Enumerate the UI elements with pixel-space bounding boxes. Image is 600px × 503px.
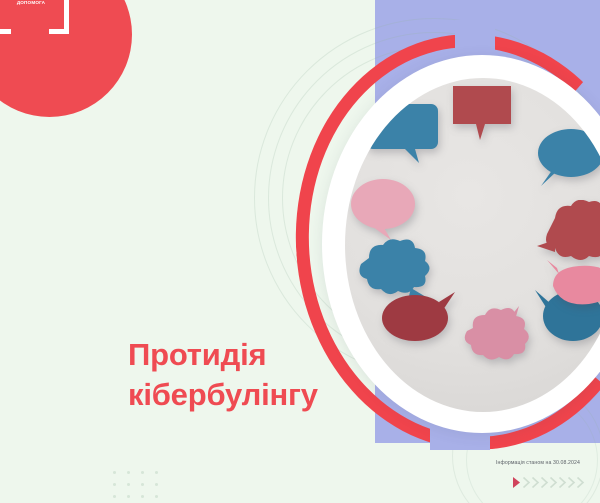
- red-ring-cut-top: [455, 20, 495, 56]
- logo-brackets: БЕЗОПЛАТНА ПРАВНИЧА ДОПОМОГА: [0, 0, 69, 24]
- footer-note: Інформація станом на 30.08.2024: [482, 460, 594, 466]
- page-title: Протидія кібербулінгу: [128, 335, 408, 415]
- chevron-right-icon-7: [576, 476, 585, 489]
- decorative-dot-grid: [113, 471, 169, 503]
- bubble-right-pink: [545, 260, 600, 306]
- page-title-line-1: Протидія: [128, 335, 408, 375]
- bubble-top-left-blue: [365, 102, 439, 164]
- background-bottom-band: [375, 443, 600, 503]
- logo-text-block: БЕЗОПЛАТНА ПРАВНИЧА ДОПОМОГА: [8, 0, 54, 6]
- chevron-right-icon-5: [558, 476, 567, 489]
- page-title-line-2: кібербулінгу: [128, 375, 408, 415]
- chevron-right-icon-2: [531, 476, 540, 489]
- bubble-left-pink: [347, 176, 421, 242]
- bubble-bottom-rose: [457, 306, 533, 374]
- chevron-arrows-icon: [512, 476, 585, 489]
- logo-line-3: ДОПОМОГА: [8, 0, 54, 6]
- chevron-right-icon-1: [522, 476, 531, 489]
- bubble-top-right-blue: [533, 126, 600, 188]
- bubble-top-center-brick: [451, 84, 513, 142]
- chevron-right-icon-active: [512, 476, 522, 489]
- poster-canvas: БЕЗОПЛАТНА ПРАВНИЧА ДОПОМОГА Протидія кі…: [0, 0, 600, 503]
- chevron-right-icon-3: [540, 476, 549, 489]
- chevron-right-icon-4: [549, 476, 558, 489]
- chevron-right-icon-6: [567, 476, 576, 489]
